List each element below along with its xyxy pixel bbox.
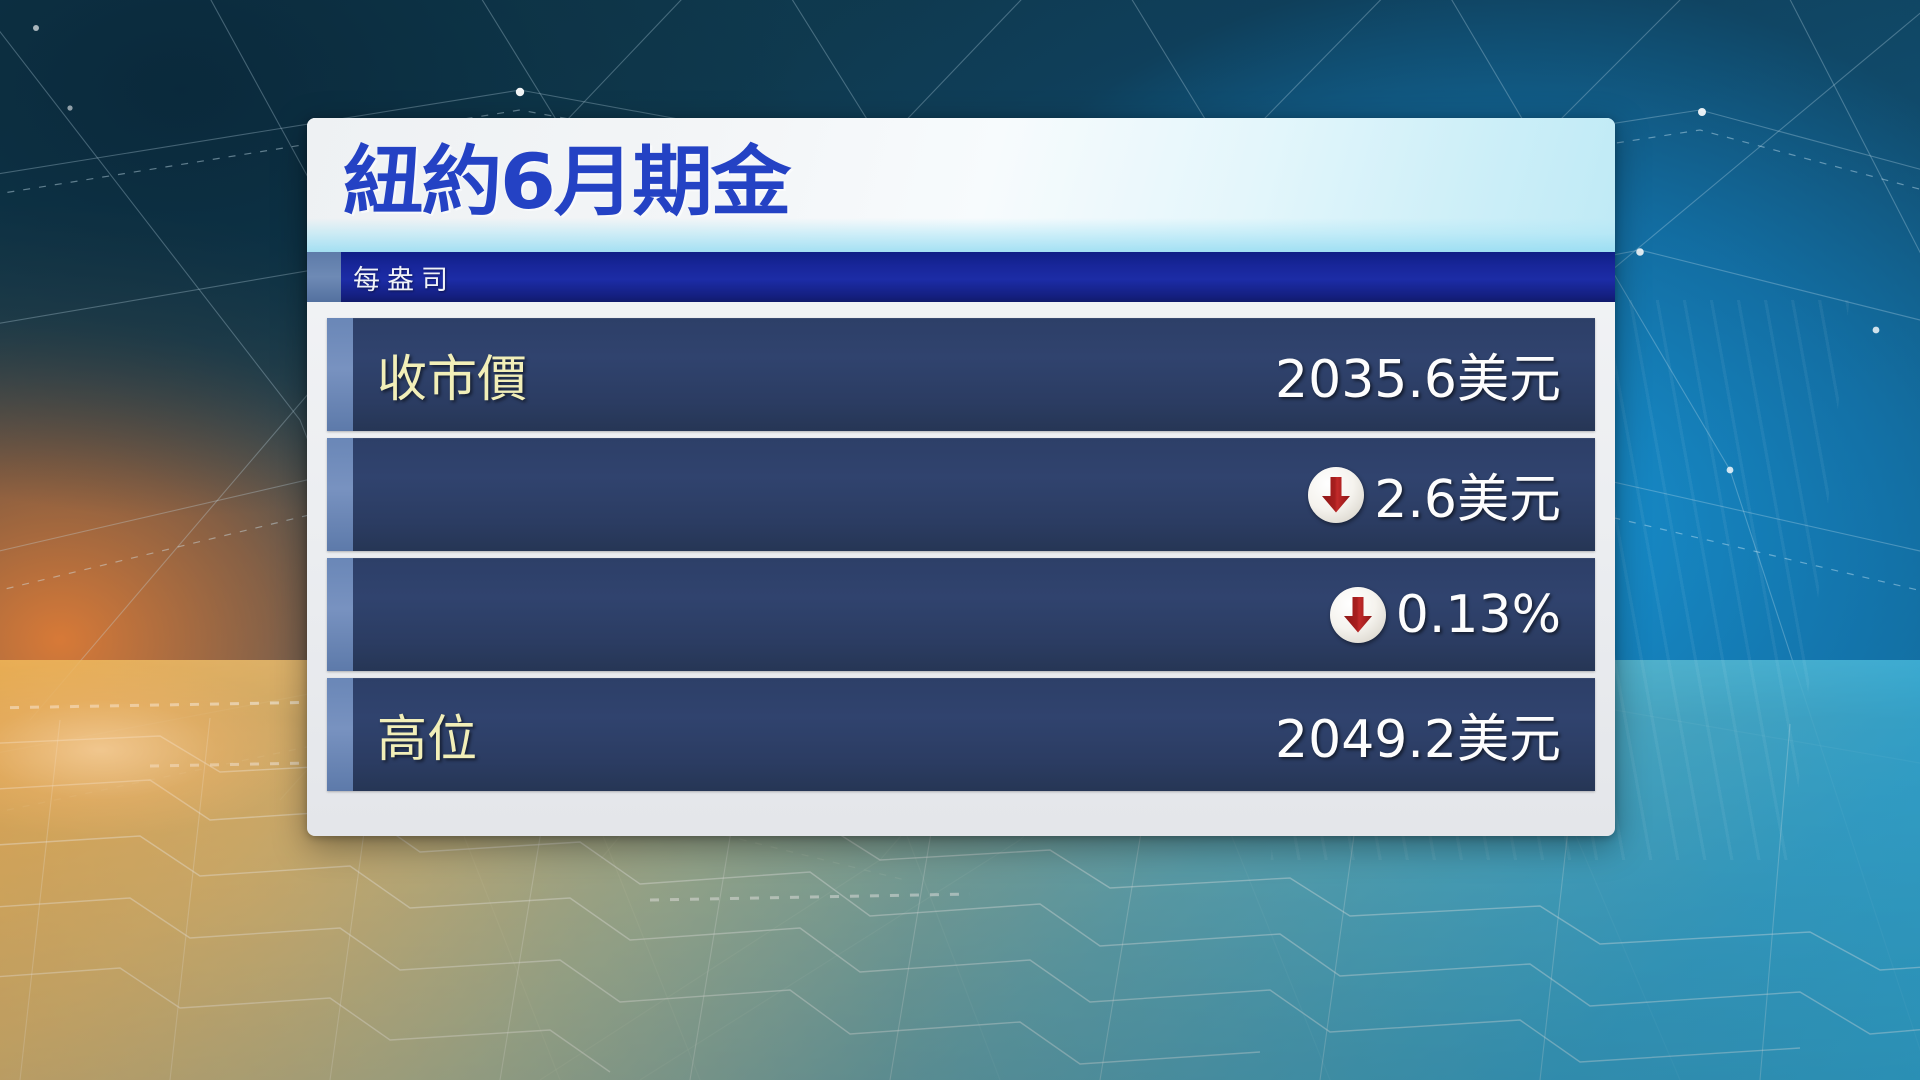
row-value-text: 2049.2美元	[1275, 697, 1561, 772]
row-accent-bar	[327, 318, 353, 431]
subtitle-accent-chip	[307, 252, 341, 302]
table-row: 收市價 2035.6美元	[327, 318, 1595, 431]
table-row: 高位 2049.2美元	[327, 678, 1595, 791]
row-value-text: 2.6美元	[1374, 457, 1561, 532]
row-value-text: 2035.6美元	[1275, 337, 1561, 412]
row-value: 2035.6美元	[1275, 337, 1561, 412]
row-value-text: 0.13%	[1396, 585, 1561, 645]
row-body: 高位 2049.2美元	[353, 678, 1595, 791]
row-body: 2.6美元	[353, 438, 1595, 551]
broadcast-graphic-stage: 紐約6月期金 每盎司 收市價 2035.6美元	[0, 0, 1920, 1080]
row-body: 0.13%	[353, 558, 1595, 671]
row-label: 收市價	[377, 339, 527, 411]
table-row: 2.6美元	[327, 438, 1595, 551]
row-label: 高位	[377, 699, 477, 771]
data-card: 紐約6月期金 每盎司 收市價 2035.6美元	[307, 118, 1615, 836]
page-title: 紐約6月期金	[343, 130, 789, 234]
row-accent-bar	[327, 678, 353, 791]
row-body: 收市價 2035.6美元	[353, 318, 1595, 431]
data-rows: 收市價 2035.6美元	[307, 302, 1615, 791]
row-value: 2049.2美元	[1275, 697, 1561, 772]
subtitle-band: 每盎司	[307, 252, 1615, 302]
row-value: 0.13%	[1330, 585, 1561, 645]
subtitle-label: 每盎司	[353, 258, 455, 297]
row-accent-bar	[327, 438, 353, 551]
row-accent-bar	[327, 558, 353, 671]
down-arrow-icon	[1330, 587, 1386, 643]
card-footer	[307, 798, 1615, 836]
table-row: 0.13%	[327, 558, 1595, 671]
row-value: 2.6美元	[1308, 457, 1561, 532]
title-panel: 紐約6月期金	[307, 118, 1615, 252]
down-arrow-icon	[1308, 467, 1364, 523]
